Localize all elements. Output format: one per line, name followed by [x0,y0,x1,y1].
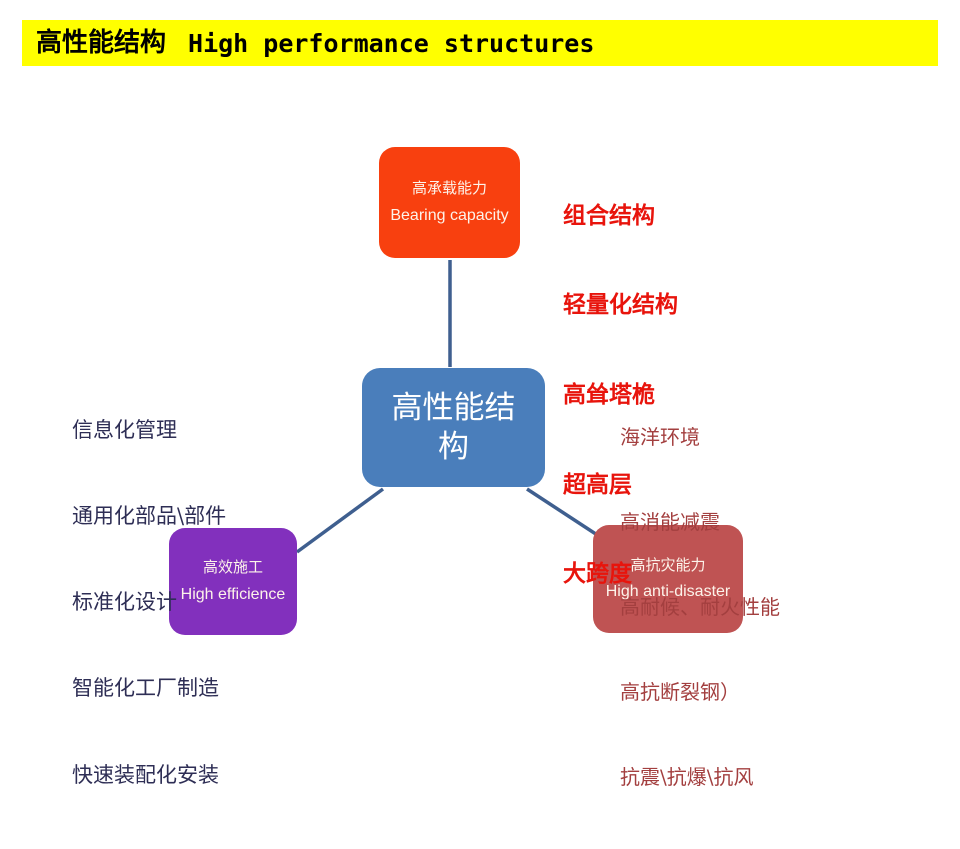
annotation-item: 轻量化结构 [563,291,678,321]
node-bearing-capacity[interactable]: 高承载能力 Bearing capacity [379,147,520,258]
annotation-item: 抗震\抗爆\抗风 [620,763,780,791]
annotation-item: 快速装配化安装 [72,761,226,790]
title-banner: 高性能结构 High performance structures [22,20,938,66]
annotation-item: 高耐候、耐火性能 [620,593,780,621]
connector-center-to-bottom-left [297,489,383,552]
page-title-english: High performance structures [188,31,594,56]
annotation-item: 通用化部品\部件 [72,502,226,531]
node-bearing-capacity-label-en: Bearing capacity [390,207,508,225]
annotation-item: 组合结构 [563,202,678,232]
annotation-item: 海洋环境 [620,423,780,451]
page-title-chinese: 高性能结构 [36,30,166,56]
node-center-label-cn: 高性能结构 [379,389,529,467]
slide-canvas: 高性能结构 High performance structures 高承载能力 … [0,0,960,720]
annotation-item: 信息化管理 [72,416,226,445]
annotation-item: 智能化工厂制造 [72,674,226,703]
annotation-list-left: 信息化管理 通用化部品\部件 标准化设计 智能化工厂制造 快速装配化安装 [72,358,226,847]
annotation-item: 高消能减震 [620,508,780,536]
annotation-item: 高抗断裂钢） [620,678,780,706]
node-center-high-performance-structures[interactable]: 高性能结构 [362,368,545,487]
annotation-list-right: 海洋环境 高消能减震 高耐候、耐火性能 高抗断裂钢） 抗震\抗爆\抗风 [620,366,780,849]
node-bearing-capacity-label-cn: 高承载能力 [412,180,487,197]
annotation-item: 标准化设计 [72,588,226,617]
